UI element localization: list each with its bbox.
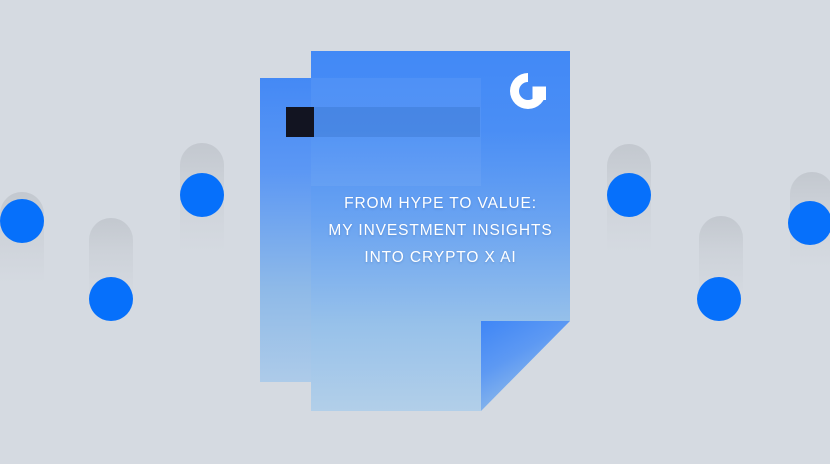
decor-dot-2 — [89, 277, 133, 321]
g-monogram-logo-icon — [506, 69, 550, 113]
cover-canvas: FROM HYPE TO VALUE: MY INVESTMENT INSIGH… — [0, 0, 830, 464]
decor-dot-3 — [180, 173, 224, 217]
decor-dot-5 — [697, 277, 741, 321]
decor-dot-6 — [788, 201, 830, 245]
cover-title: FROM HYPE TO VALUE: MY INVESTMENT INSIGH… — [311, 190, 570, 271]
header-dark-swatch — [286, 107, 314, 137]
decor-dot-1 — [0, 199, 44, 243]
decor-dot-4 — [607, 173, 651, 217]
header-accent-bar — [286, 107, 480, 137]
